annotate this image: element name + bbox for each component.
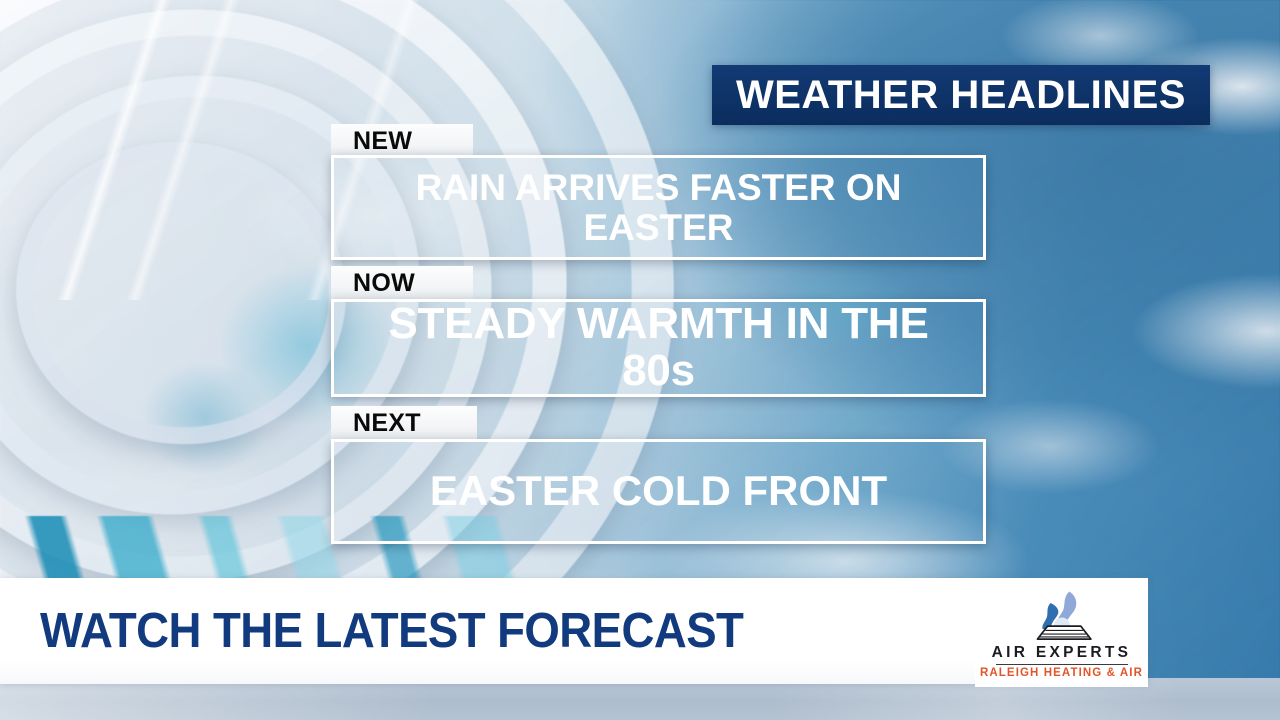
sponsor-logo: AIR EXPERTS RALEIGH HEATING & AIR — [975, 580, 1148, 687]
cta-text: WATCH THE LATEST FORECAST — [40, 607, 743, 656]
headline-box-new: RAIN ARRIVES FASTER ON EASTER — [331, 155, 986, 260]
headline-text: RAIN ARRIVES FASTER ON EASTER — [334, 168, 983, 246]
logo-company-name: AIR EXPERTS — [992, 645, 1132, 661]
headline-tag-new: NEW — [331, 124, 473, 158]
headline-tag-next: NEXT — [331, 406, 477, 440]
headline-tag-now: NOW — [331, 266, 473, 300]
weather-headlines-graphic: WEATHER HEADLINES NEW RAIN ARRIVES FASTE… — [0, 0, 1280, 720]
headline-tag-label: NEW — [353, 129, 412, 154]
flame-over-vent-icon — [1025, 590, 1099, 642]
headline-box-next: EASTER COLD FRONT — [331, 439, 986, 544]
logo-divider — [996, 664, 1128, 665]
logo-tagline: RALEIGH HEATING & AIR — [980, 668, 1143, 680]
headline-box-now: STEADY WARMTH IN THE 80s — [331, 299, 986, 397]
headline-item-next: NEXT EASTER COLD FRONT — [331, 406, 986, 544]
page-title: WEATHER HEADLINES — [736, 75, 1186, 115]
headline-tag-label: NOW — [353, 271, 415, 296]
headline-tag-label: NEXT — [353, 411, 421, 436]
weather-headlines-title-bar: WEATHER HEADLINES — [712, 65, 1210, 125]
headline-text: EASTER COLD FRONT — [416, 469, 901, 514]
headline-text: STEADY WARMTH IN THE 80s — [334, 301, 983, 394]
headline-item-now: NOW STEADY WARMTH IN THE 80s — [331, 266, 986, 397]
headline-item-new: NEW RAIN ARRIVES FASTER ON EASTER — [331, 124, 986, 260]
